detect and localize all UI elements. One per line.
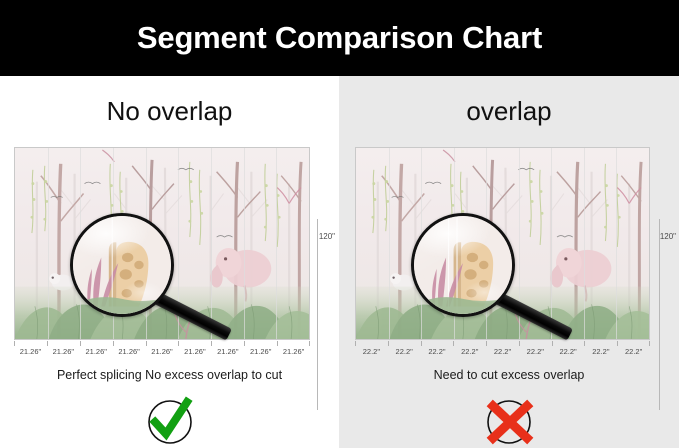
title-banner: Segment Comparison Chart [0,0,679,76]
mural-image-no-overlap [14,147,310,340]
panel-heading-no-overlap: No overlap [0,96,339,127]
segment-label: 22.2" [552,341,585,356]
height-label-overlap: 120" [660,232,676,241]
mural-figure-no-overlap [14,147,310,340]
segment-label: 22.2" [388,341,421,356]
segment-label: 21.26" [146,341,179,356]
segment-label: 21.26" [244,341,277,356]
mural-artwork [15,148,309,339]
caption-overlap: Need to cut excess overlap [339,368,679,382]
panel-no-overlap: No overlap [0,76,339,448]
red-cross-icon [482,394,536,448]
segment-label: 22.2" [486,341,519,356]
segment-label: 22.2" [453,341,486,356]
panel-overlap: overlap [339,76,679,448]
segment-label: 21.26" [211,341,244,356]
segment-label: 22.2" [355,341,388,356]
segment-labels-overlap: 22.2" 22.2" 22.2" 22.2" 22.2" 22.2" 22.2… [355,341,650,356]
segment-label: 22.2" [617,341,650,356]
mural-figure-overlap [355,147,650,340]
panel-heading-overlap: overlap [339,96,679,127]
segment-label: 21.26" [80,341,113,356]
segment-label: 21.26" [47,341,80,356]
mural-image-overlap [355,147,650,340]
segment-label: 21.26" [14,341,47,356]
page-title: Segment Comparison Chart [137,20,542,56]
segment-label: 21.26" [277,341,310,356]
segment-labels-no-overlap: 21.26" 21.26" 21.26" 21.26" 21.26" 21.26… [14,341,310,356]
comparison-chart-root: Segment Comparison Chart No overlap [0,0,679,448]
green-check-icon [143,394,197,448]
panels-container: No overlap [0,76,679,448]
segment-label: 22.2" [421,341,454,356]
segment-label: 21.26" [178,341,211,356]
segment-label: 22.2" [519,341,552,356]
height-label-no-overlap: 120" [319,232,335,241]
mural-artwork [356,148,649,339]
segment-label: 21.26" [113,341,146,356]
segment-label: 22.2" [584,341,617,356]
caption-no-overlap: Perfect splicing No excess overlap to cu… [0,368,339,382]
